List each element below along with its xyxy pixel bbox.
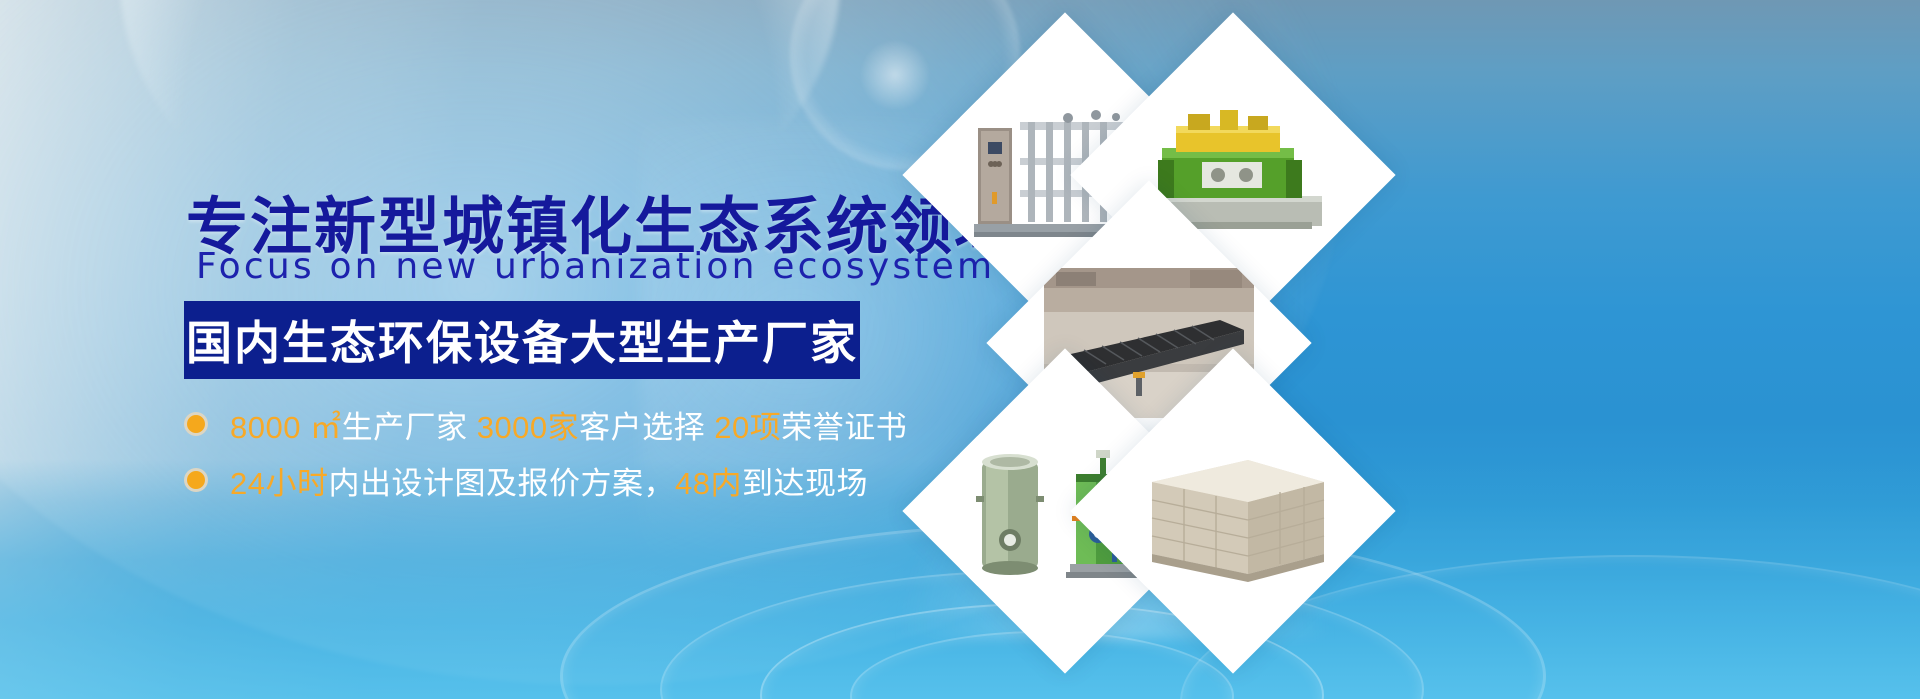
list-item: 24小时内出设计图及报价方案，48内到达现场 — [184, 456, 907, 504]
hero-banner: 专注新型城镇化生态系统领域 Focus on new urbanization … — [0, 0, 1920, 699]
banner-copy-column: 专注新型城镇化生态系统领域 Focus on new urbanization … — [0, 0, 920, 699]
list-item: 8000 ㎡生产厂家 3000家客户选择 20项荣誉证书 — [184, 400, 907, 448]
plain-text: 生产厂家 — [342, 410, 477, 445]
stacked-aerated-concrete-blocks-icon — [1128, 436, 1338, 586]
selling-point-text-1: 8000 ㎡生产厂家 3000家客户选择 20项荣誉证书 — [230, 402, 907, 447]
accent-text: 48内 — [675, 466, 742, 501]
accent-text: 20项 — [714, 410, 781, 445]
plain-text: 内出设计图及报价方案， — [328, 466, 675, 501]
plain-text: 到达现场 — [742, 466, 868, 501]
accent-text: 8000 ㎡ — [230, 410, 342, 445]
accent-text: 3000家 — [477, 410, 579, 445]
bullet-dot-icon — [184, 412, 208, 436]
bullet-dot-icon — [184, 468, 208, 492]
highlight-band-text: 国内生态环保设备大型生产厂家 — [186, 307, 858, 373]
banner-subheadline-english: Focus on new urbanization ecosystem — [196, 246, 995, 287]
accent-text: 24小时 — [230, 466, 328, 501]
selling-point-text-2: 24小时内出设计图及报价方案，48内到达现场 — [230, 458, 868, 503]
selling-points-list: 8000 ㎡生产厂家 3000家客户选择 20项荣誉证书 24小时内出设计图及报… — [184, 400, 907, 512]
plain-text: 荣誉证书 — [781, 410, 907, 445]
highlight-band: 国内生态环保设备大型生产厂家 — [184, 301, 860, 379]
plain-text: 客户选择 — [579, 410, 714, 445]
product-diamond-gallery: 2020-07-01 — [900, 0, 1920, 699]
